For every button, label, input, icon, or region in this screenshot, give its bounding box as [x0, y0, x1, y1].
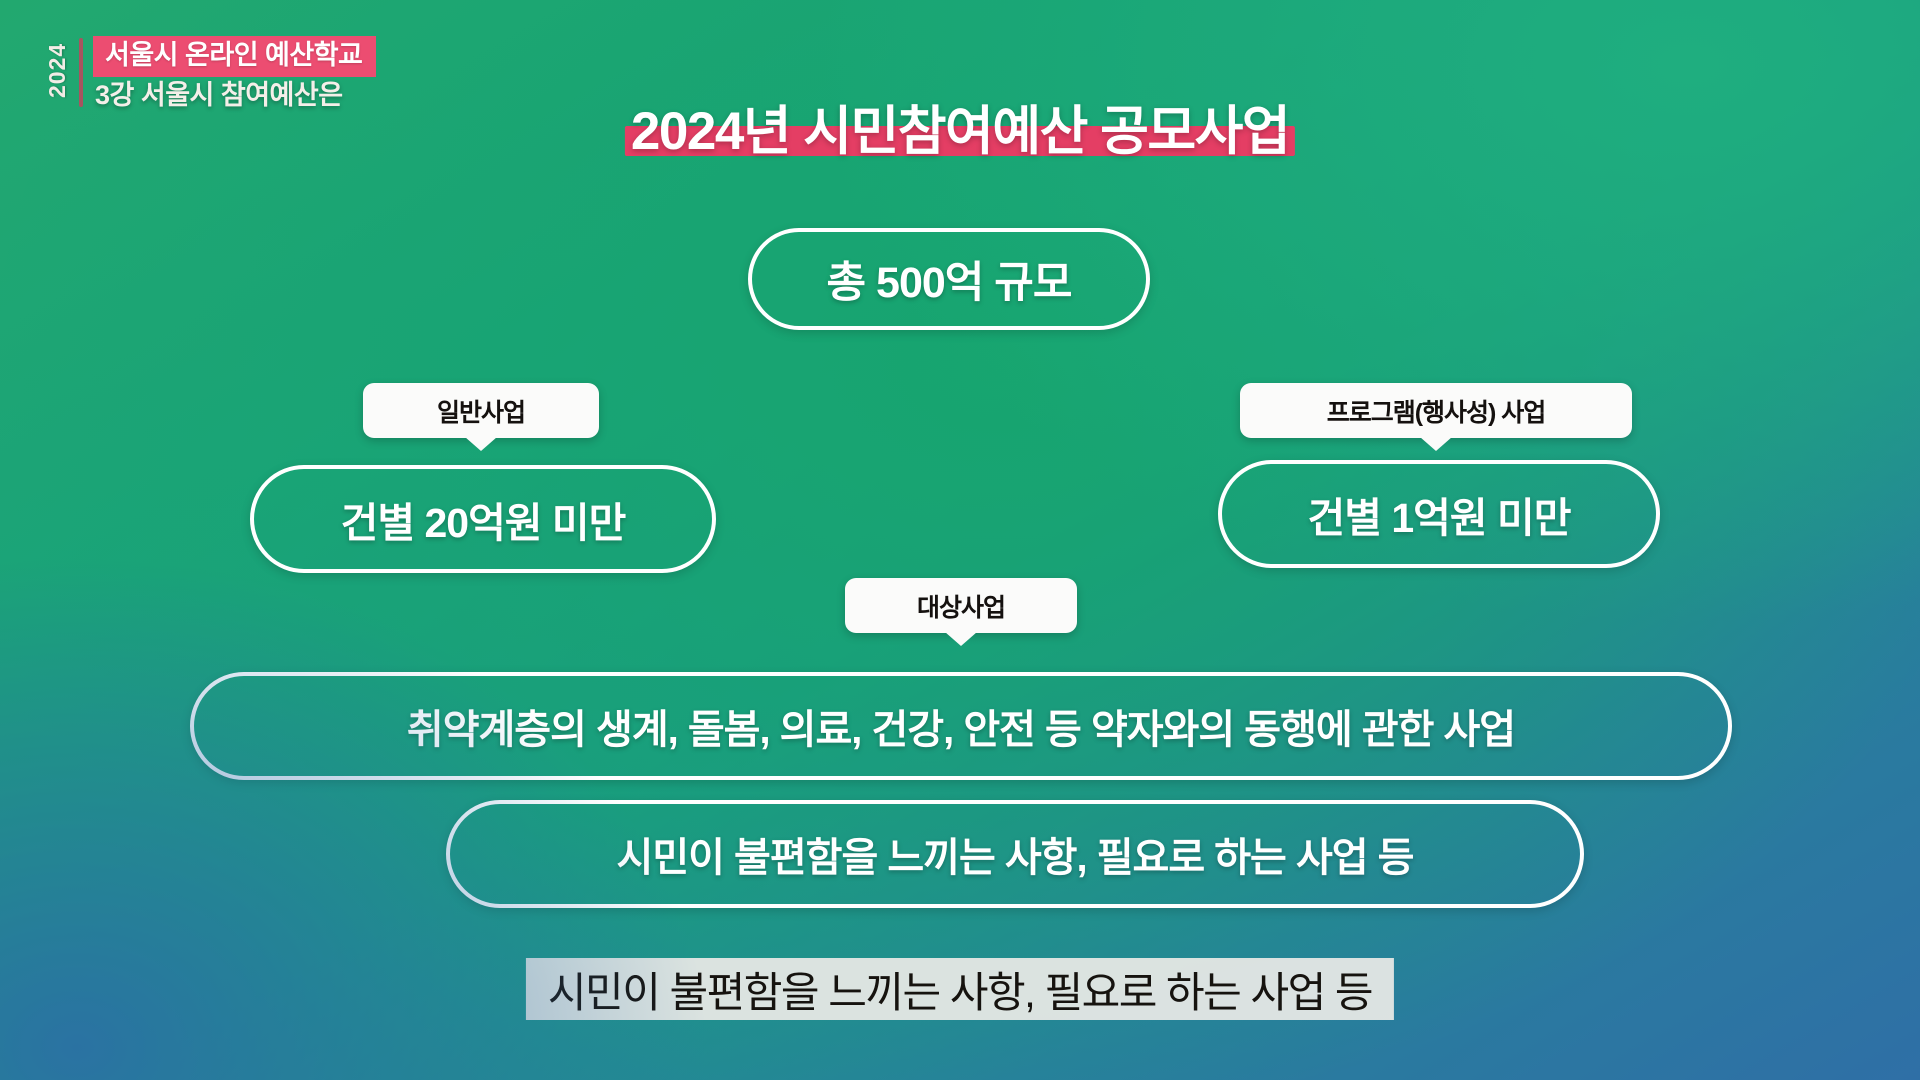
target-project-item-1: 취약계층의 생계, 돌봄, 의료, 건강, 안전 등 약자와의 동행에 관한 사… [190, 672, 1732, 780]
lecture-badge: 2024 서울시 온라인 예산학교 3강 서울시 참여예산은 [44, 34, 376, 109]
badge-text-stack: 서울시 온라인 예산학교 3강 서울시 참여예산은 [93, 34, 376, 109]
badge-lecture-title: 3강 서울시 참여예산은 [93, 82, 376, 109]
total-budget-pill: 총 500억 규모 [748, 228, 1150, 330]
badge-series-title: 서울시 온라인 예산학교 [93, 36, 376, 77]
badge-divider-rule [79, 38, 83, 107]
target-project-item-2: 시민이 불편함을 느끼는 사항, 필요로 하는 사업 등 [446, 800, 1584, 908]
amount-general-project: 건별 20억원 미만 [250, 465, 716, 573]
amount-program-project: 건별 1억원 미만 [1218, 460, 1660, 568]
label-general-project: 일반사업 [363, 383, 599, 438]
slide-content: 2024 서울시 온라인 예산학교 3강 서울시 참여예산은 2024년 시민참… [0, 0, 1920, 1080]
label-target-project: 대상사업 [845, 578, 1077, 633]
title-text: 2024년 시민참여예산 공모사업 [631, 102, 1289, 161]
badge-year-label: 2024 [44, 34, 71, 109]
page-title: 2024년 시민참여예산 공모사업 [631, 104, 1289, 160]
subtitle-caption-bar: 시민이 불편함을 느끼는 사항, 필요로 하는 사업 등 [526, 958, 1394, 1020]
label-program-project: 프로그램(행사성) 사업 [1240, 383, 1632, 438]
slide-canvas: 2024 서울시 온라인 예산학교 3강 서울시 참여예산은 2024년 시민참… [0, 0, 1920, 1080]
